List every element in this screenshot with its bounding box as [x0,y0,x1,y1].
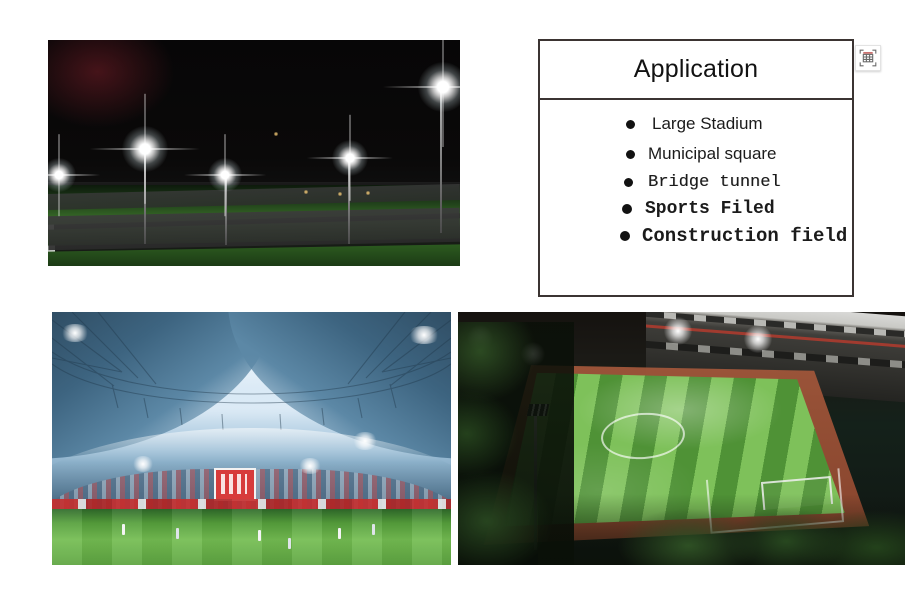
stadium-lamp [132,456,154,472]
bullet-icon [622,204,632,214]
bullet-icon [626,120,635,129]
stadium-lamp [298,458,322,474]
list-item-label: Bridge tunnel [644,173,781,192]
player [258,530,261,541]
player [176,528,179,539]
floodlight-glow [332,140,368,176]
list-item-label: Municipal square [646,144,777,164]
stadium-lamp [60,324,90,342]
application-list: Large Stadium Municipal square Bridge tu… [540,100,852,247]
player [338,528,341,539]
flood-lamp [664,317,692,345]
blue-stadium-interior-photo [52,312,451,565]
flood-lamp [744,325,772,353]
bullet-icon [626,150,635,159]
list-item: Large Stadium [540,114,852,134]
distant-light [366,191,370,195]
distant-light [338,192,342,196]
list-item-label: Sports Filed [643,199,775,219]
player [288,538,291,549]
night-race-track-photo [48,40,460,266]
application-panel: Application Large Stadium Municipal squa… [538,39,854,297]
scoreboard [214,468,256,501]
application-panel-header: Application [540,41,852,100]
list-item: Municipal square [540,144,852,164]
list-item-label: Construction field [641,225,847,247]
tree-line-bottom [538,494,905,565]
stadium-pitch [52,509,451,565]
list-item-label: Large Stadium [646,114,763,134]
stadium-lamp [352,432,378,450]
floodlight-glow [418,62,460,112]
list-item: Sports Filed [540,199,852,219]
player [122,524,125,535]
page-canvas: Application Large Stadium Municipal squa… [0,0,917,598]
list-item: Construction field [540,225,852,247]
player [372,524,375,535]
bullet-icon [620,231,630,241]
distant-light [274,132,278,136]
table-crop-icon [859,49,877,67]
aerial-football-field-photo [458,312,905,565]
floodlight-glow [208,158,242,192]
table-tool-button[interactable] [855,45,881,71]
page-title: Application [634,55,759,84]
floodlight-glow [122,126,168,172]
bullet-icon [624,178,633,187]
stadium-lamp [407,326,441,344]
distant-light [304,190,308,194]
list-item: Bridge tunnel [540,173,852,192]
